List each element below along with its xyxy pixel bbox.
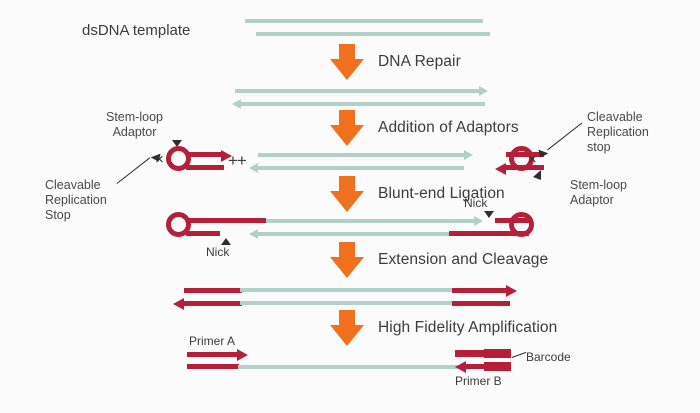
barcode-label: Barcode xyxy=(526,350,571,364)
repaired-strand-top xyxy=(235,89,479,93)
primer-b-arrowhead xyxy=(455,361,466,373)
stem-loop-adaptor-label-right: Stem-loop Adaptor xyxy=(570,178,627,208)
leader-line-right xyxy=(547,122,583,150)
nick-label-right: Nick xyxy=(464,196,487,210)
ligated-template-bottom xyxy=(258,232,474,236)
barcode-leader-line xyxy=(512,352,527,358)
ligated-adaptor-top-left xyxy=(186,218,266,223)
adaptor-pointer-triangle-right xyxy=(533,170,541,180)
adaptor-stage-strand-bottom xyxy=(258,166,464,170)
ligated-stem-loop-right xyxy=(509,212,534,237)
barcode-block-top xyxy=(484,349,511,358)
repaired-strand-bottom xyxy=(241,102,485,106)
leader-line-left xyxy=(117,157,151,184)
ligated-template-top xyxy=(266,219,474,223)
down-arrow-icon xyxy=(330,110,364,146)
adaptor-stage-strand-top xyxy=(258,153,464,157)
cleavable-replication-stop-marker-right: × xyxy=(528,152,537,167)
primer-a-label: Primer A xyxy=(189,334,235,348)
strand-arrowhead-right xyxy=(479,86,488,96)
plus-symbol: ++ xyxy=(228,152,246,169)
primer-a-strand xyxy=(187,352,239,357)
extended-red-bottom-right xyxy=(452,301,510,306)
nick-marker-left xyxy=(221,238,231,245)
nick-marker-right xyxy=(484,211,494,218)
barcode-block-bottom xyxy=(484,362,511,371)
extended-template-top xyxy=(240,288,454,292)
ligated-adaptor-bottom-left xyxy=(186,231,220,236)
strand-arrowhead-right xyxy=(464,150,473,160)
strand-arrowhead-right xyxy=(474,216,483,226)
dsdna-template-label: dsDNA template xyxy=(82,22,190,40)
primer-a-arrowhead xyxy=(237,349,248,361)
extended-red-top-left xyxy=(184,288,242,293)
cleavable-replication-stop-label-left: Cleavable Replication Stop xyxy=(45,178,107,222)
down-arrow-icon xyxy=(330,242,364,278)
process-step-label-1: DNA Repair xyxy=(378,53,461,71)
primer-b-label: Primer B xyxy=(455,374,502,388)
process-step-label-2: Addition of Adaptors xyxy=(378,119,519,137)
extended-arrowhead-right xyxy=(506,285,517,297)
strand-arrowhead-left xyxy=(249,163,258,173)
nick-label-left: Nick xyxy=(206,245,229,259)
down-arrow-icon xyxy=(330,44,364,80)
extended-template-bottom xyxy=(240,301,454,305)
process-step-label-5: High Fidelity Amplification xyxy=(378,319,557,337)
strand-arrowhead-left xyxy=(249,229,258,239)
down-arrow-icon xyxy=(330,176,364,212)
down-arrow-icon xyxy=(330,310,364,346)
process-step-label-4: Extension and Cleavage xyxy=(378,251,548,269)
extended-red-top-right xyxy=(452,288,508,293)
extended-red-bottom-left xyxy=(184,301,242,306)
stem-loop-adaptor-label-left: Stem-loop Adaptor xyxy=(106,110,163,140)
adaptor-strand-top-left xyxy=(186,152,223,157)
amplified-template-bottom xyxy=(238,365,460,369)
diagram-canvas: dsDNA template DNA Repair Addition of Ad… xyxy=(0,0,700,413)
strand-arrowhead-left xyxy=(232,99,241,109)
cleavable-replication-stop-label-right: Cleavable Replication stop xyxy=(587,110,649,154)
adaptor-arrowhead-right xyxy=(495,163,506,175)
extended-arrowhead-left xyxy=(173,298,184,310)
template-strand-top xyxy=(245,19,483,23)
template-strand-bottom xyxy=(256,32,490,36)
amplified-red-bottom-left xyxy=(187,364,239,369)
adaptor-strand-bottom-left xyxy=(186,165,224,170)
